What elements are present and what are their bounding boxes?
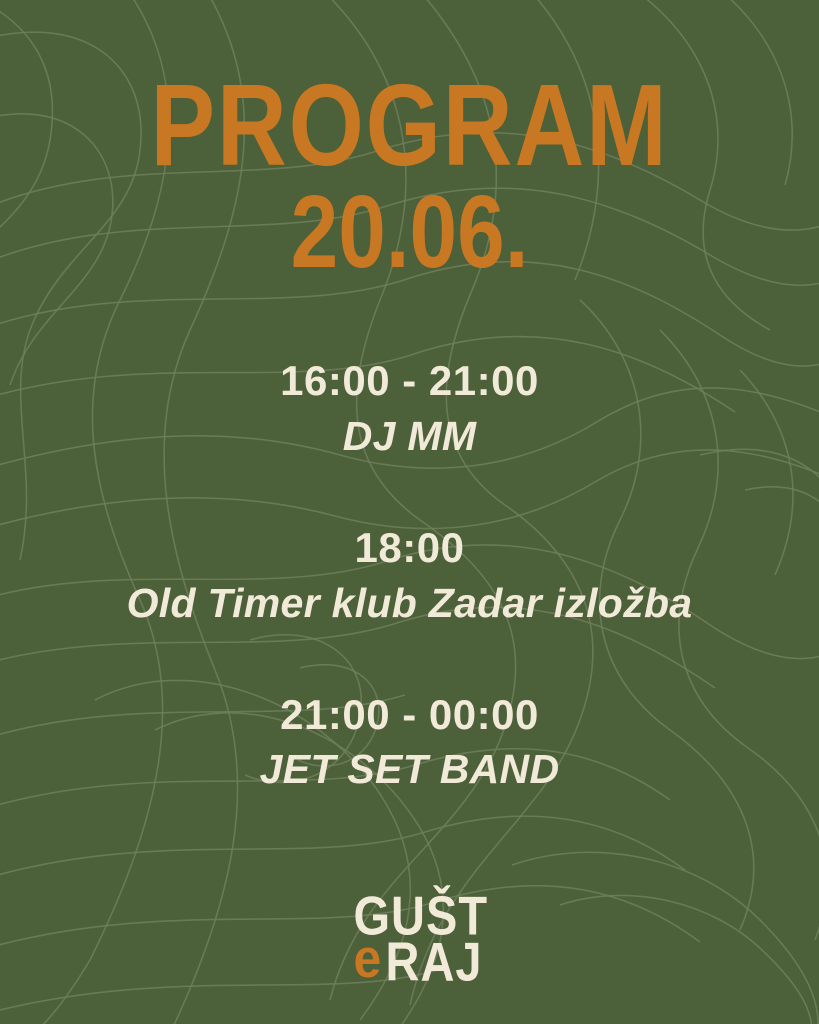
title-line-program: PROGRAM (150, 72, 668, 181)
poster-content: PROGRAM 20.06. 16:00 - 21:00 DJ MM 18:00… (0, 0, 819, 1024)
schedule-list: 16:00 - 21:00 DJ MM 18:00 Old Timer klub… (0, 356, 819, 794)
logo-text-raj: RAJ (386, 934, 483, 989)
schedule-entry: 21:00 - 00:00 JET SET BAND (0, 690, 819, 795)
entry-act: DJ MM (0, 412, 819, 461)
logo-text-e: e (354, 931, 382, 986)
schedule-entry: 16:00 - 21:00 DJ MM (0, 356, 819, 461)
entry-time: 21:00 - 00:00 (0, 690, 819, 740)
poster-canvas: PROGRAM 20.06. 16:00 - 21:00 DJ MM 18:00… (0, 0, 819, 1024)
brand-logo-inner: GUŠT e RAJ (330, 886, 490, 982)
entry-time: 16:00 - 21:00 (0, 356, 819, 406)
schedule-entry: 18:00 Old Timer klub Zadar izložba (0, 523, 819, 628)
title-line-date: 20.06. (150, 184, 668, 281)
entry-time: 18:00 (0, 523, 819, 573)
brand-logo: GUŠT e RAJ (0, 886, 819, 982)
entry-act: JET SET BAND (0, 745, 819, 794)
poster-title: PROGRAM 20.06. (131, 72, 688, 270)
entry-act: Old Timer klub Zadar izložba (0, 579, 819, 628)
